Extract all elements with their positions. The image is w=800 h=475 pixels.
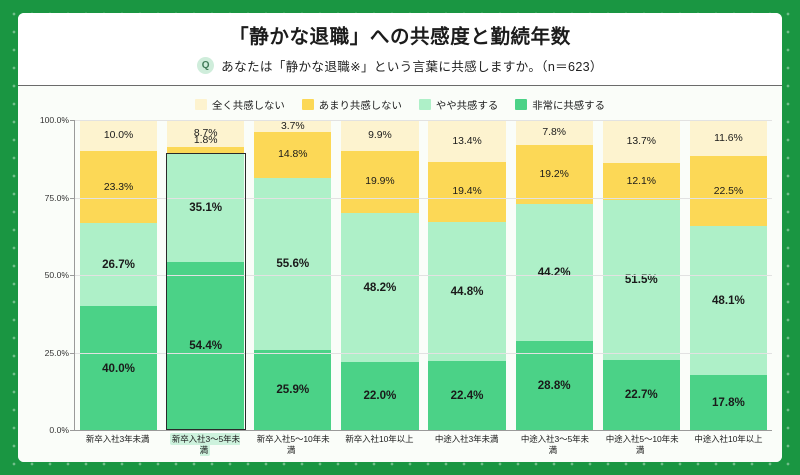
x-axis-spacer: [28, 434, 74, 456]
bar-segment-label: 7.8%: [542, 127, 566, 138]
legend-label: やや共感する: [436, 97, 498, 112]
bar-segment[interactable]: 22.7%: [603, 360, 680, 430]
x-axis-label-text: 新卒入社5〜10年未満: [255, 433, 330, 456]
bar-segment-label: 22.7%: [625, 388, 658, 401]
legend-swatch-icon: [195, 99, 207, 110]
bar-segment[interactable]: 19.4%: [428, 162, 505, 222]
x-axis-label-text: 新卒入社10年以上: [343, 433, 415, 445]
x-axis-label-text: 新卒入社3年未満: [84, 433, 151, 445]
bar-segment-label: 23.3%: [104, 182, 133, 193]
bar-segment-label: 19.2%: [539, 169, 568, 180]
bar-segment[interactable]: 28.8%: [516, 341, 593, 430]
y-axis-tickmark: [70, 275, 75, 276]
bar-segment-label: 22.0%: [363, 389, 396, 402]
legend-item-2[interactable]: やや共感する: [419, 97, 498, 112]
bar-segment-label: 44.2%: [538, 266, 571, 279]
bar-segment[interactable]: 44.2%: [516, 204, 593, 341]
bar-segment[interactable]: 48.2%: [341, 213, 418, 362]
legend-label: 全く共感しない: [212, 97, 285, 112]
legend-label: 非常に共感する: [532, 97, 605, 112]
bar-segment-label: 26.7%: [102, 258, 135, 271]
page-title: 「静かな退職」への共感度と勤続年数: [18, 25, 782, 49]
question-icon: Q: [197, 57, 214, 74]
y-axis-tickmark: [70, 430, 75, 431]
y-axis-tickmark: [70, 198, 75, 199]
bar-segment-label: 1.8%: [194, 135, 218, 146]
legend-swatch-icon: [419, 99, 431, 110]
bar-segment-label: 35.1%: [189, 201, 222, 214]
legend-swatch-icon: [302, 99, 314, 110]
bar-segment-label: 40.0%: [102, 362, 135, 375]
x-axis-label: 中途入社10年以上: [690, 434, 767, 456]
bar-segment[interactable]: 26.7%: [80, 223, 157, 306]
bar-segment[interactable]: 17.8%: [690, 375, 767, 430]
x-axis-label: 新卒入社5〜10年未満: [253, 434, 330, 456]
bar-segment[interactable]: 3.7%: [254, 120, 331, 131]
bar-segment[interactable]: 10.0%: [80, 120, 157, 151]
bar-segment[interactable]: 22.5%: [690, 156, 767, 226]
gridline: [75, 120, 772, 121]
chart-header: 「静かな退職」への共感度と勤続年数 Q あなたは「静かな退職※」という言葉に共感…: [18, 13, 782, 86]
gridline: [75, 353, 772, 354]
y-axis-tickmark: [70, 353, 75, 354]
legend-item-3[interactable]: 非常に共感する: [515, 97, 605, 112]
bar-segment[interactable]: 19.9%: [341, 151, 418, 213]
bar-segment[interactable]: 22.4%: [428, 361, 505, 430]
bar-segment[interactable]: 44.8%: [428, 222, 505, 361]
plot-area: 全く共感しないあまり共感しないやや共感する非常に共感する 0.0%25.0%50…: [18, 86, 782, 462]
legend-item-0[interactable]: 全く共感しない: [195, 97, 285, 112]
legend-swatch-icon: [515, 99, 527, 110]
bar-segment-label: 22.4%: [451, 389, 484, 402]
bar-segment[interactable]: 23.3%: [80, 151, 157, 223]
y-axis-tick-label: 100.0%: [40, 115, 69, 125]
chart-body: 0.0%25.0%50.0%75.0%100.0% 10.0%23.3%26.7…: [28, 120, 772, 430]
bar-segment[interactable]: 9.9%: [341, 120, 418, 151]
y-axis-tick-label: 75.0%: [45, 193, 69, 203]
x-axis-label-text: 中途入社10年以上: [692, 433, 764, 445]
bar-segment[interactable]: 51.5%: [603, 200, 680, 359]
bar-segment[interactable]: 40.0%: [80, 306, 157, 430]
bar-segment-label: 12.1%: [627, 176, 656, 187]
bar-segment-label: 19.9%: [365, 176, 394, 187]
y-axis-tick-label: 25.0%: [45, 348, 69, 358]
bar-segment-label: 44.8%: [451, 285, 484, 298]
legend-label: あまり共感しない: [319, 97, 402, 112]
x-axis-labels: 新卒入社3年未満新卒入社3〜5年未満新卒入社5〜10年未満新卒入社10年以上中途…: [74, 434, 772, 456]
x-axis-label-text: 中途入社3〜5年未満: [519, 433, 589, 456]
bar-segment[interactable]: 19.2%: [516, 145, 593, 204]
x-axis-label: 中途入社3年未満: [428, 434, 505, 456]
bar-segment-label: 14.8%: [278, 149, 307, 160]
y-axis-tick-label: 0.0%: [49, 425, 69, 435]
bar-segment[interactable]: 7.8%: [516, 120, 593, 144]
x-axis: 新卒入社3年未満新卒入社3〜5年未満新卒入社5〜10年未満新卒入社10年以上中途…: [28, 430, 772, 462]
x-axis-label: 新卒入社10年以上: [341, 434, 418, 456]
y-axis: 0.0%25.0%50.0%75.0%100.0%: [28, 120, 74, 430]
bar-segment[interactable]: 35.1%: [167, 153, 244, 262]
chart-card: 「静かな退職」への共感度と勤続年数 Q あなたは「静かな退職※」という言葉に共感…: [18, 13, 782, 462]
subtitle-row: Q あなたは「静かな退職※」という言葉に共感しますか。（n＝623）: [18, 56, 782, 75]
x-axis-label: 中途入社5〜10年未満: [602, 434, 679, 456]
y-axis-tickmark: [70, 120, 75, 121]
bar-segment-label: 54.4%: [189, 339, 222, 352]
bar-segment[interactable]: 54.4%: [167, 262, 244, 430]
x-axis-label-text: 中途入社3年未満: [433, 433, 500, 445]
chart-legend: 全く共感しないあまり共感しないやや共感する非常に共感する: [28, 95, 772, 120]
bar-segment-label: 48.1%: [712, 294, 745, 307]
bar-segment-label: 22.5%: [714, 186, 743, 197]
bar-segment[interactable]: 14.8%: [254, 132, 331, 178]
bar-segment-label: 13.7%: [627, 136, 656, 147]
bar-segment-label: 3.7%: [281, 121, 305, 132]
bar-segment-label: 25.9%: [276, 383, 309, 396]
bar-segment-label: 19.4%: [452, 186, 481, 197]
bar-segment-label: 55.6%: [276, 257, 309, 270]
x-axis-label-text: 新卒入社3〜5年未満: [170, 433, 240, 456]
bar-segment-label: 11.6%: [714, 133, 743, 144]
bar-segment[interactable]: 11.6%: [690, 120, 767, 156]
chart-subtitle: あなたは「静かな退職※」という言葉に共感しますか。（n＝623）: [221, 56, 603, 75]
bar-segment-label: 48.2%: [363, 281, 396, 294]
bar-segment[interactable]: 12.1%: [603, 163, 680, 200]
bar-segment[interactable]: 22.0%: [341, 362, 418, 430]
bar-segment-label: 10.0%: [104, 130, 133, 141]
bar-segment[interactable]: 25.9%: [254, 350, 331, 430]
gridline: [75, 275, 772, 276]
legend-item-1[interactable]: あまり共感しない: [302, 97, 402, 112]
bar-segment-label: 28.8%: [538, 379, 571, 392]
y-axis-tick-label: 50.0%: [45, 270, 69, 280]
bar-segment[interactable]: 55.6%: [254, 178, 331, 350]
gridline: [75, 430, 772, 431]
gridline: [75, 198, 772, 199]
x-axis-label: 新卒入社3〜5年未満: [166, 434, 243, 456]
bar-segment-label: 17.8%: [712, 396, 745, 409]
x-axis-label: 中途入社3〜5年未満: [515, 434, 592, 456]
bar-segment[interactable]: 13.7%: [603, 120, 680, 162]
x-axis-label: 新卒入社3年未満: [79, 434, 156, 456]
x-axis-label-text: 中途入社5〜10年未満: [604, 433, 679, 456]
plot-grid: 10.0%23.3%26.7%40.0%8.7%1.8%35.1%54.4%3.…: [74, 120, 772, 430]
bar-segment-label: 13.4%: [452, 136, 481, 147]
bar-segment[interactable]: 13.4%: [428, 120, 505, 161]
bar-segment-label: 9.9%: [368, 130, 392, 141]
